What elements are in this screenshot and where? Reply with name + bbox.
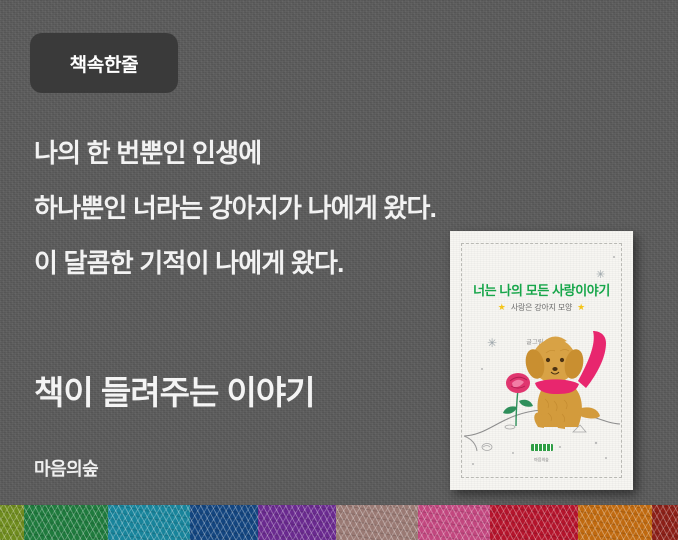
color-swatch-green xyxy=(24,505,108,540)
color-swatch-dark-red xyxy=(652,505,678,540)
color-swatch-crimson xyxy=(490,505,578,540)
publisher-logo-label: 마음의숲 xyxy=(450,457,633,463)
quote-line-2: 하나뿐인 너라는 강아지가 나에게 왔다. xyxy=(34,181,554,236)
category-badge-label: 책속한줄 xyxy=(70,50,139,77)
color-swatch-pink xyxy=(418,505,490,540)
color-swatch-purple xyxy=(258,505,336,540)
color-swatch-orange xyxy=(578,505,652,540)
color-swatch-dusty-rose xyxy=(336,505,418,540)
color-strip xyxy=(0,505,678,540)
publisher-logo-icon xyxy=(531,444,553,451)
category-badge[interactable]: 책속한줄 xyxy=(30,33,178,93)
color-swatch-olive xyxy=(0,505,24,540)
color-swatch-teal xyxy=(108,505,190,540)
book-promo-card: 책속한줄 나의 한 번뿐인 인생에 하나뿐인 너라는 강아지가 나에게 왔다. … xyxy=(0,0,678,540)
book-cover[interactable]: 너는 나의 모든 사랑이야기 ★ 사랑은 강아지 모양 ★ 글그림 유영 ✳ ✳ xyxy=(450,231,633,490)
publisher-name: 마음의숲 xyxy=(34,455,98,481)
quote-line-1: 나의 한 번뿐인 인생에 xyxy=(34,126,554,181)
headline: 책이 들려주는 이야기 xyxy=(34,366,315,414)
color-swatch-blue xyxy=(190,505,258,540)
publisher-logo: 마음의숲 xyxy=(450,438,633,463)
